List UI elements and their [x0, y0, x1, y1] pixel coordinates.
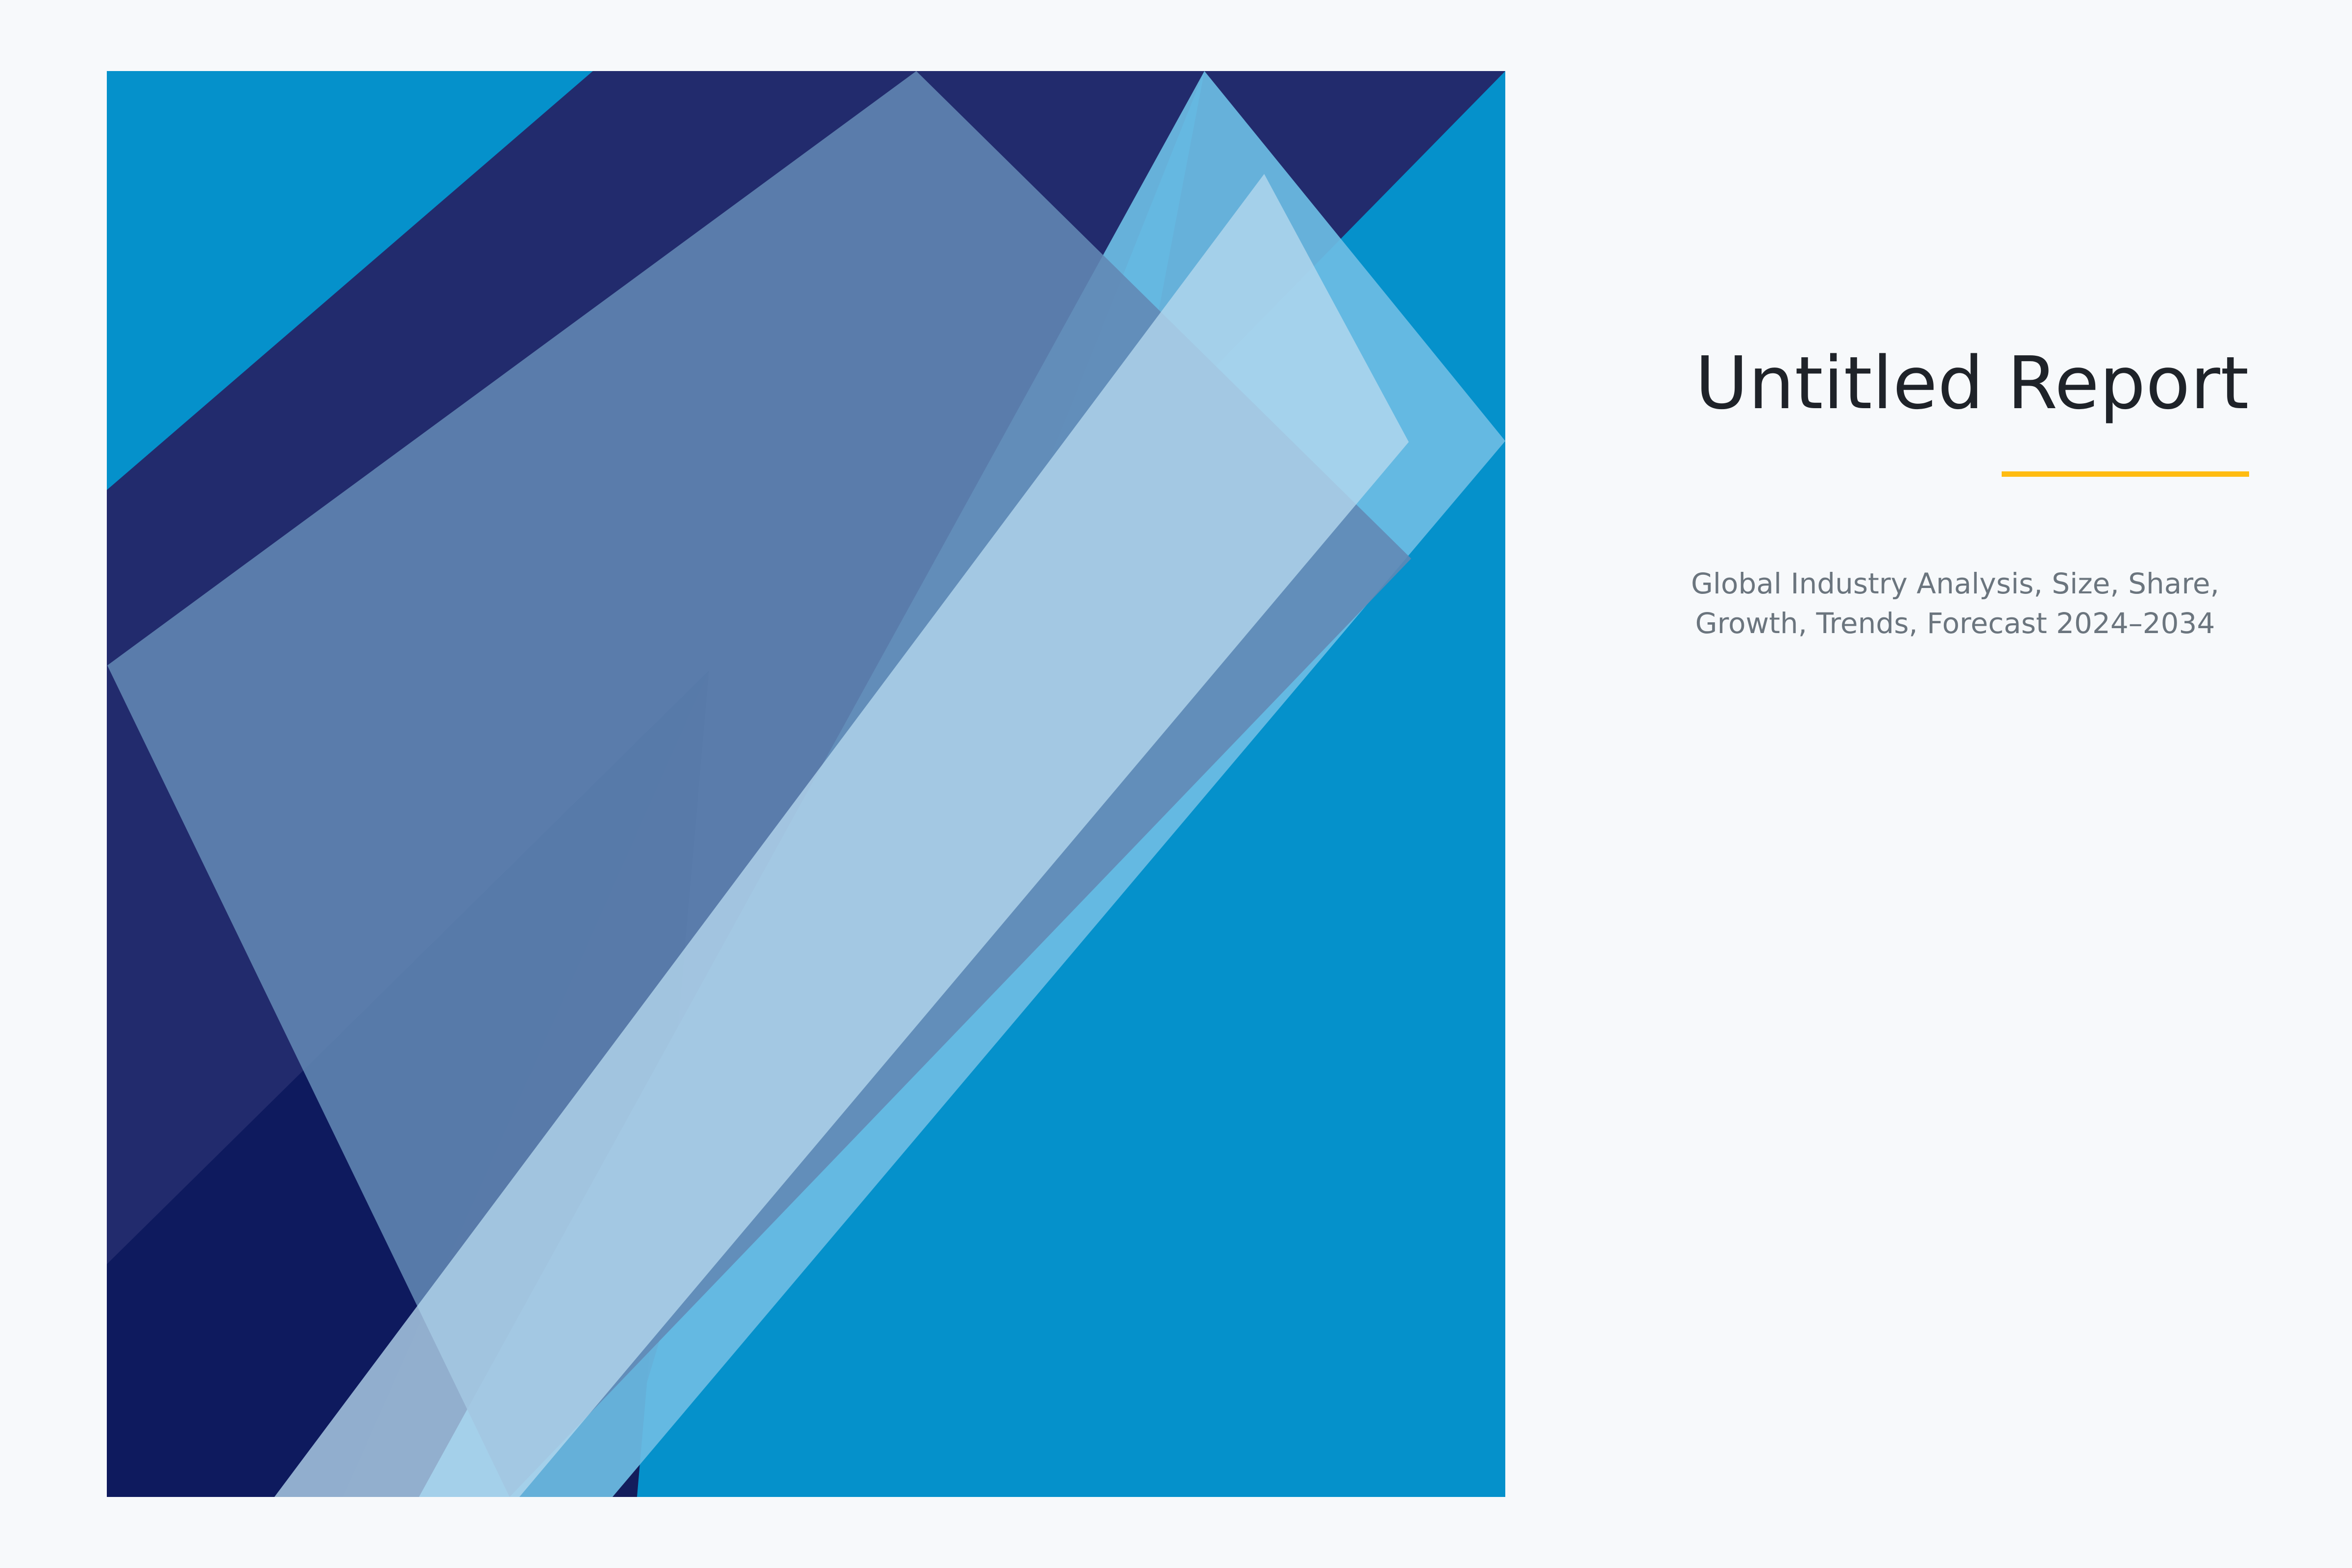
- cover-artwork-svg: [0, 0, 1568, 1568]
- report-subtitle-line-1: Global Industry Analysis, Size, Share,: [1661, 564, 2249, 604]
- cover-artwork: [0, 0, 1568, 1568]
- report-subtitle: Global Industry Analysis, Size, Share, G…: [1558, 564, 2249, 643]
- title-rule-container: [1558, 471, 2249, 477]
- report-cover-page: Untitled Report Global Industry Analysis…: [0, 0, 2352, 1568]
- cover-text-block: Untitled Report Global Industry Analysis…: [1558, 343, 2249, 643]
- report-title: Untitled Report: [1558, 343, 2249, 424]
- report-subtitle-line-2: Growth, Trends, Forecast 2024–2034: [1661, 604, 2249, 643]
- title-accent-rule: [2002, 471, 2249, 477]
